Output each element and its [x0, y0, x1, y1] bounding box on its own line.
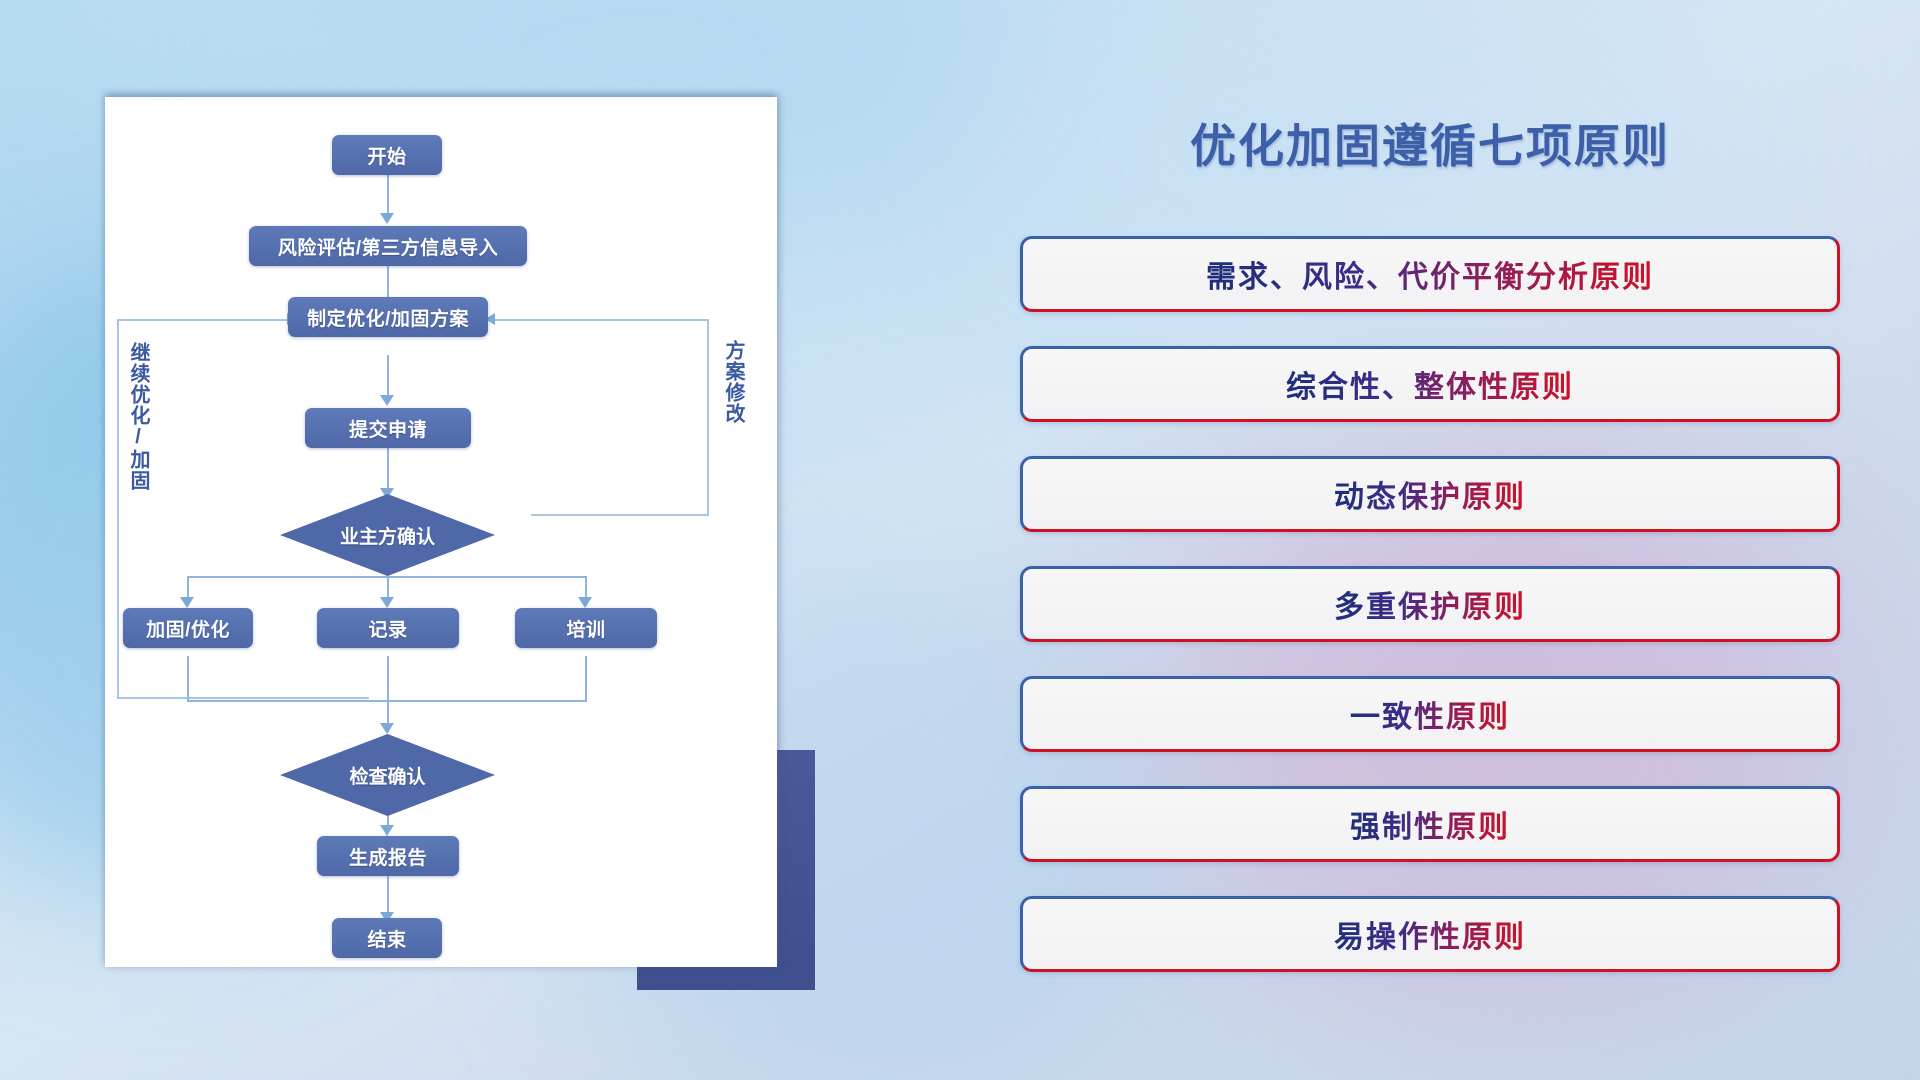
connector-submit-owner [387, 446, 389, 494]
connector-loop-right-rail [707, 319, 709, 515]
flow-label-continue-optimize: 继续优化/加固 [127, 342, 148, 491]
flow-node-make-plan[interactable]: 制定优化/加固方案 [288, 297, 488, 337]
flow-node-reinforce-optimize[interactable]: 加固/优化 [123, 608, 253, 648]
connector-loop-left-bottom [117, 697, 369, 699]
flow-node-risk-assessment[interactable]: 风险评估/第三方信息导入 [249, 226, 527, 266]
principle-card-label: 综合性、整体性原则 [1286, 362, 1574, 406]
principle-card-label: 强制性原则 [1350, 802, 1510, 846]
flow-node-record[interactable]: 记录 [317, 608, 459, 648]
flow-node-end[interactable]: 结束 [332, 918, 442, 958]
principle-card-label: 一致性原则 [1350, 692, 1510, 736]
flow-node-inspection-confirm[interactable]: 检查确认 [280, 734, 495, 816]
principle-card[interactable]: 需求、风险、代价平衡分析原则 [1020, 236, 1840, 312]
arrowhead-plan-submit [380, 395, 394, 406]
connector-loop-left-rail [117, 319, 119, 699]
arrowhead-bus-train [578, 597, 592, 608]
arrowhead-bus-reinforce [180, 597, 194, 608]
flowchart-panel: 继续优化/加固 方案修改 [105, 97, 777, 967]
flow-node-submit-application[interactable]: 提交申请 [305, 408, 471, 448]
principle-card-label: 动态保护原则 [1334, 472, 1526, 516]
connector-reinforce-merge [187, 656, 189, 701]
principle-card[interactable]: 综合性、整体性原则 [1020, 346, 1840, 422]
principle-card[interactable]: 一致性原则 [1020, 676, 1840, 752]
principles-card-list: 需求、风险、代价平衡分析原则 综合性、整体性原则 动态保护原则 多重保护原则 一… [1020, 236, 1840, 1006]
principle-card[interactable]: 强制性原则 [1020, 786, 1840, 862]
principles-panel: 优化加固遵循七项原则 需求、风险、代价平衡分析原则 综合性、整体性原则 动态保护… [1020, 0, 1920, 1080]
principle-card[interactable]: 易操作性原则 [1020, 896, 1840, 972]
principles-title: 优化加固遵循七项原则 [1020, 110, 1840, 176]
principle-card[interactable]: 多重保护原则 [1020, 566, 1840, 642]
flow-label-plan-revision: 方案修改 [722, 340, 743, 424]
arrowhead-start-assess [380, 213, 394, 224]
flowchart-stage: 继续优化/加固 方案修改 [105, 97, 777, 967]
flow-node-generate-report[interactable]: 生成报告 [317, 836, 459, 876]
connector-loop-right-bottom [531, 514, 709, 516]
arrowhead-bus-record [380, 597, 394, 608]
arrowhead-merge-check [380, 723, 394, 734]
flow-node-start[interactable]: 开始 [332, 135, 442, 175]
connector-loop-right-top [493, 319, 709, 321]
flow-node-owner-confirm[interactable]: 业主方确认 [280, 494, 495, 576]
flow-node-training[interactable]: 培训 [515, 608, 657, 648]
principle-card-label: 多重保护原则 [1334, 582, 1526, 626]
principle-card-label: 需求、风险、代价平衡分析原则 [1206, 252, 1654, 296]
principle-card-label: 易操作性原则 [1334, 912, 1526, 956]
arrowhead-check-report [380, 825, 394, 836]
connector-record-check [387, 656, 389, 732]
flow-node-inspection-confirm-label: 检查确认 [280, 734, 495, 816]
principle-card[interactable]: 动态保护原则 [1020, 456, 1840, 532]
connector-loop-left-top [117, 319, 289, 321]
connector-train-merge [585, 656, 587, 701]
flow-node-owner-confirm-label: 业主方确认 [280, 494, 495, 576]
